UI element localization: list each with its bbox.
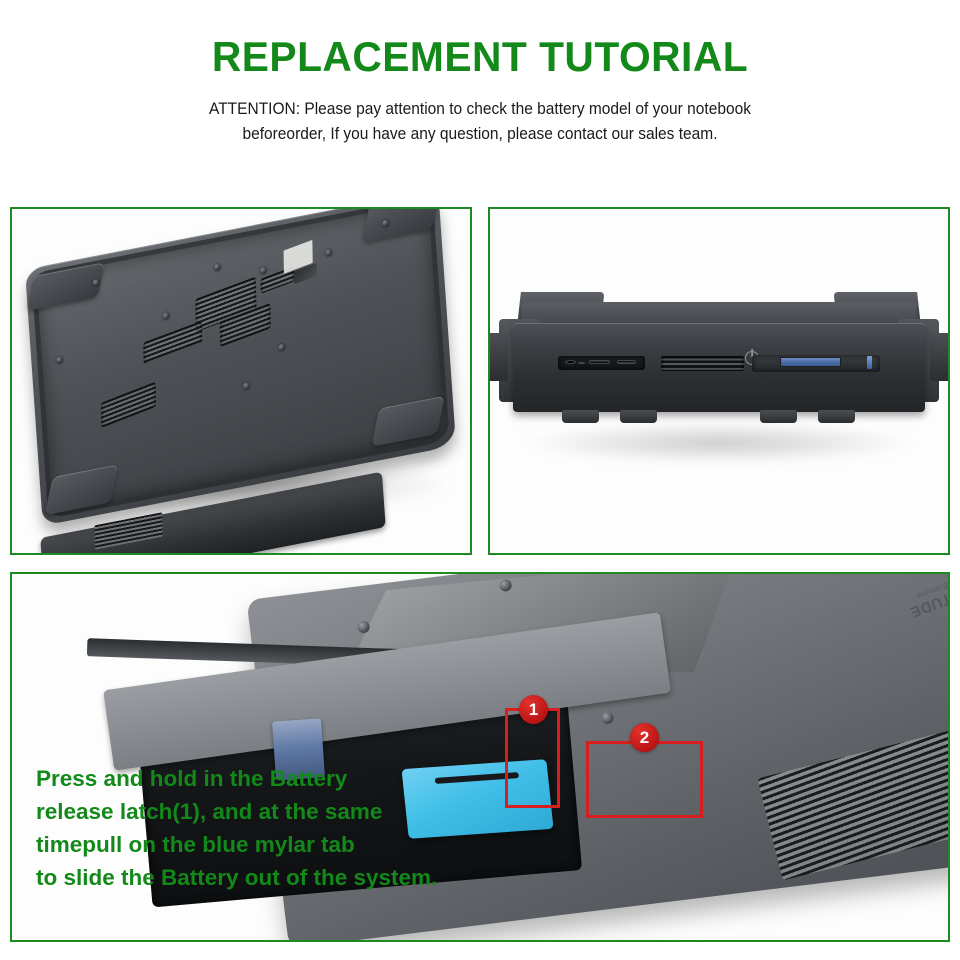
- battery-label: [780, 357, 841, 367]
- instruction-line-2: release latch(1), and at the same: [36, 795, 437, 828]
- instruction-line-4: to slide the Battery out of the system.: [36, 861, 437, 894]
- rubber-foot: [562, 410, 599, 423]
- callout-badge-1[interactable]: 1: [519, 695, 548, 724]
- laptop-bottom-photo: [12, 209, 470, 553]
- port-bay: [558, 356, 645, 370]
- battery-bay: [752, 355, 880, 372]
- callout-badge-2[interactable]: 2: [630, 723, 659, 752]
- side-vent-grille: [757, 723, 950, 881]
- screw: [214, 262, 221, 270]
- rubber-foot: [620, 410, 657, 423]
- audio-jack-port: [565, 360, 575, 364]
- instruction-text: Press and hold in the Battery release la…: [36, 762, 437, 894]
- instruction-line-3: timepull on the blue mylar tab: [36, 828, 437, 861]
- side-ear-right: [930, 333, 950, 381]
- rubber-foot: [760, 410, 797, 423]
- attention-note: ATTENTION: Please pay attention to check…: [29, 97, 931, 147]
- photo-panel-laptop-bottom: [10, 207, 472, 555]
- attention-line-2: beforeorder, If you have any question, p…: [29, 122, 931, 147]
- rubber-foot: [818, 410, 855, 423]
- hdmi-port: [589, 360, 610, 363]
- small-round-port: [578, 362, 585, 365]
- usb-port: [617, 360, 636, 363]
- screw: [600, 711, 613, 724]
- latitude-brand-label: LATITUDE Rugged Extreme: [904, 572, 950, 621]
- tutorial-page: REPLACEMENT TUTORIAL ATTENTION: Please p…: [0, 0, 960, 960]
- battery-blue-strip: [867, 356, 872, 369]
- laptop-rear-photo: [490, 209, 948, 553]
- photo-panel-laptop-rear: [488, 207, 950, 555]
- rear-vent-grille: [661, 356, 743, 371]
- drop-shadow: [527, 422, 912, 463]
- rear-chassis: [513, 323, 925, 412]
- attention-line-1: ATTENTION: Please pay attention to check…: [209, 100, 751, 118]
- callout-box-2: [586, 741, 703, 818]
- page-title: REPLACEMENT TUTORIAL: [14, 33, 945, 81]
- side-ear-left: [488, 333, 508, 381]
- instruction-line-1: Press and hold in the Battery: [36, 762, 437, 795]
